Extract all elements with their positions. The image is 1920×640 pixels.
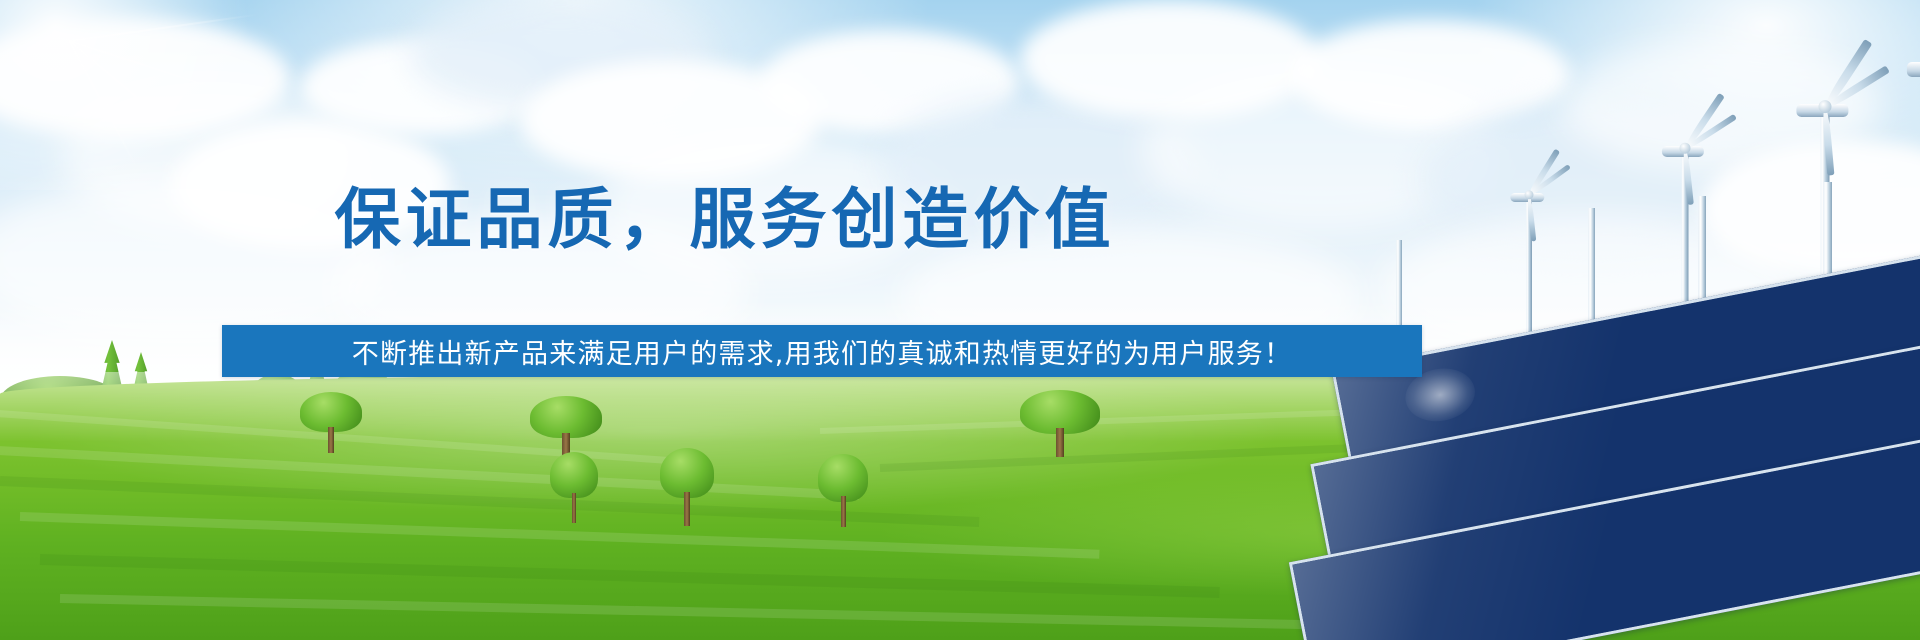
turbine-hub — [1819, 100, 1832, 113]
page-title: 保证品质，服务创造价值 — [0, 166, 1450, 262]
solar-panel-array — [1168, 216, 1920, 640]
sapling-tree — [660, 448, 714, 524]
sapling-tree — [550, 452, 598, 522]
turbine-nacelle — [1907, 62, 1920, 77]
sapling-tree — [1020, 390, 1100, 456]
sapling-tree — [300, 392, 362, 452]
subtitle-text: 不断推出新产品来满足用户的需求,用我们的真诚和热情更好的为用户服务！ — [352, 332, 1292, 371]
subtitle-bar: 不断推出新产品来满足用户的需求,用我们的真诚和热情更好的为用户服务！ — [222, 325, 1422, 377]
turbine-hub — [1525, 190, 1534, 199]
turbine-hub — [1680, 143, 1691, 154]
sapling-tree — [530, 396, 602, 460]
sapling-tree — [818, 454, 868, 526]
hero-banner: 保证品质，服务创造价值 不断推出新产品来满足用户的需求,用我们的真诚和热情更好的… — [0, 0, 1920, 640]
